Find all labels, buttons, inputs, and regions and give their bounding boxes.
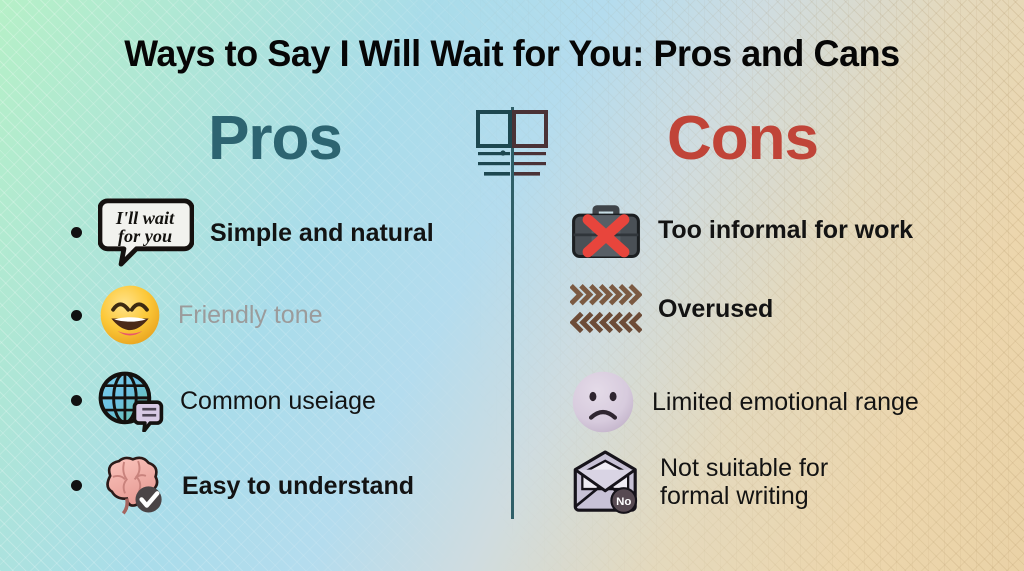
list-item[interactable]: Limited emotional range — [570, 369, 919, 435]
list-item-label: Simple and natural — [210, 219, 434, 247]
bullet-point — [68, 395, 84, 406]
list-item-label: Limited emotional range — [652, 388, 919, 416]
svg-text:No: No — [616, 496, 631, 508]
list-item-label: Too informal for work — [658, 216, 913, 244]
speech-bubble-icon: I'll wait for you — [98, 197, 194, 268]
pros-heading: Pros — [195, 103, 355, 174]
envelope-with-no-badge-icon: No — [570, 450, 644, 514]
grinning-face-emoji — [98, 283, 162, 347]
list-item-label: Not suitable for formal writing — [660, 454, 828, 510]
brain-with-check-icon — [98, 455, 166, 516]
list-item-label: Friendly tone — [178, 301, 323, 329]
list-item-label: Easy to understand — [182, 472, 414, 500]
svg-text:I'll wait: I'll wait — [115, 208, 175, 228]
page-title: Ways to Say I Will Wait for You: Pros an… — [15, 33, 1008, 75]
list-item[interactable]: Common useiage — [68, 369, 376, 432]
list-item-label: Common useiage — [180, 387, 376, 415]
cons-heading: Cons — [660, 103, 825, 174]
list-item[interactable]: Easy to understand — [68, 455, 414, 516]
list-item[interactable]: No Not suitable for formal writing — [570, 450, 828, 514]
list-item[interactable]: Too informal for work — [570, 198, 913, 261]
briefcase-with-red-x-icon — [570, 198, 642, 261]
bullet-point — [68, 227, 84, 238]
bullet-point — [68, 310, 84, 321]
list-item[interactable]: I'll wait for you Simple and natural — [68, 197, 434, 268]
list-item-label: Overused — [658, 295, 773, 323]
infographic-poster: Ways to Say I Will Wait for You: Pros an… — [0, 0, 1024, 571]
globe-with-chat-icon — [98, 369, 164, 432]
svg-text:for you: for you — [118, 226, 172, 246]
list-item[interactable]: Overused — [570, 283, 773, 335]
double-chevron-rows-icon — [570, 283, 642, 335]
list-item[interactable]: Friendly tone — [68, 283, 323, 347]
bullet-point — [68, 480, 84, 491]
frowning-face-emoji — [570, 369, 636, 435]
balance-scales-icon — [472, 108, 552, 182]
